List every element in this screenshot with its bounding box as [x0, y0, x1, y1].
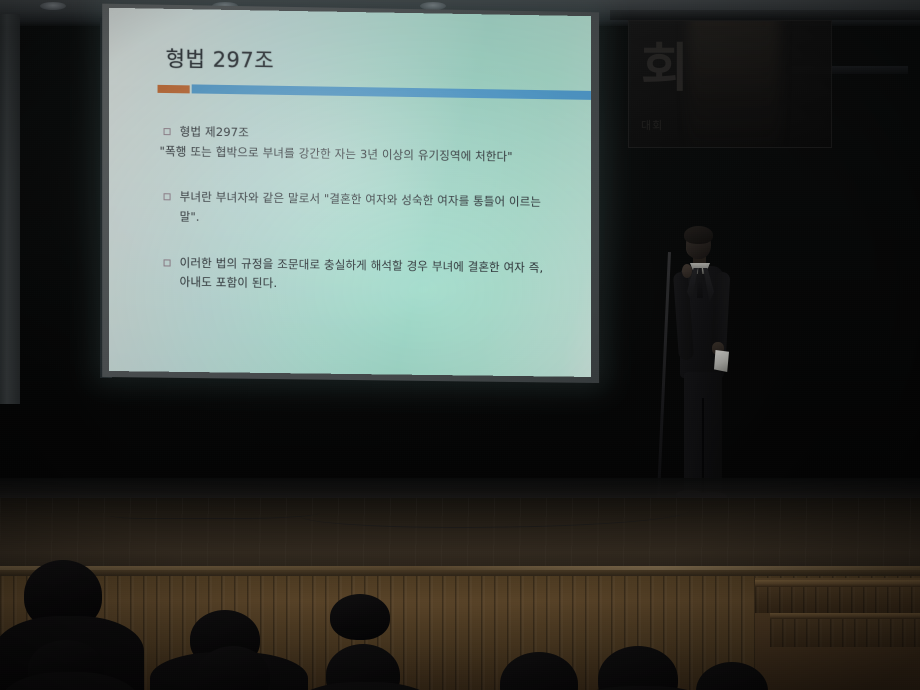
list-item: 이러한 법의 규정을 조문대로 충실하게 해석할 경우 부녀에 결혼한 여자 즉…	[164, 254, 568, 296]
divider-orange-accent	[158, 84, 190, 93]
audience-silhouettes	[0, 548, 920, 690]
bullet-text: 부녀란 부녀자와 같은 말로서 "결혼한 여자와 성숙한 여자를 통틀어 이르는	[180, 189, 541, 211]
bullet-subtext: 아내도 포함이 된다.	[180, 274, 568, 296]
slide-title: 형법 297조	[166, 43, 568, 80]
slide-divider	[158, 84, 592, 100]
left-wall-panel	[0, 14, 20, 404]
speaker-person	[660, 222, 760, 522]
audience-head	[696, 662, 768, 690]
slide-content: 형법 297조 형법 제297조 "폭행 또는 협박으로 부녀를 강간한 자는 …	[109, 8, 591, 377]
banner-subtext: 대회	[641, 117, 663, 133]
list-item: 형법 제297조 "폭행 또는 협박으로 부녀를 강간한 자는 3년 이상의 유…	[164, 123, 568, 166]
ceiling-light-icon	[40, 2, 66, 10]
audience-head	[330, 594, 390, 640]
audience-head	[500, 652, 578, 690]
divider-blue-bar	[192, 84, 591, 100]
bullet-text: 형법 제297조	[180, 123, 249, 141]
slide-bullet-list: 형법 제297조 "폭행 또는 협박으로 부녀를 강간한 자는 3년 이상의 유…	[164, 123, 568, 296]
wall-banner: 회 대회	[628, 20, 832, 148]
bullet-subtext: "폭행 또는 협박으로 부녀를 강간한 자는 3년 이상의 유기징역에 처한다"	[160, 143, 568, 166]
speaker-hand-holding-microphone	[682, 264, 692, 278]
list-item: 부녀란 부녀자와 같은 말로서 "결혼한 여자와 성숙한 여자를 통틀어 이르는…	[164, 189, 568, 231]
speaker-hair	[684, 226, 713, 244]
audience-shoulders	[292, 682, 438, 690]
square-bullet-icon	[164, 128, 171, 135]
microphone-cable	[110, 503, 320, 519]
projection-screen: 형법 297조 형법 제297조 "폭행 또는 협박으로 부녀를 강간한 자는 …	[109, 8, 591, 377]
banner-mount-rail	[610, 10, 920, 20]
banner-character: 회	[641, 43, 689, 95]
square-bullet-icon	[164, 194, 171, 201]
square-bullet-icon	[164, 259, 171, 266]
papers-icon	[714, 350, 729, 372]
lecture-hall-photo: 회 대회 형법 297조 형법 제297조 "폭행 또는 협박으로 부녀를 강간…	[0, 0, 920, 690]
bullet-subtext: 말".	[180, 209, 568, 231]
audience-head	[598, 646, 678, 690]
bullet-text: 이러한 법의 규정을 조문대로 충실하게 해석할 경우 부녀에 결혼한 여자 즉…	[180, 254, 544, 276]
